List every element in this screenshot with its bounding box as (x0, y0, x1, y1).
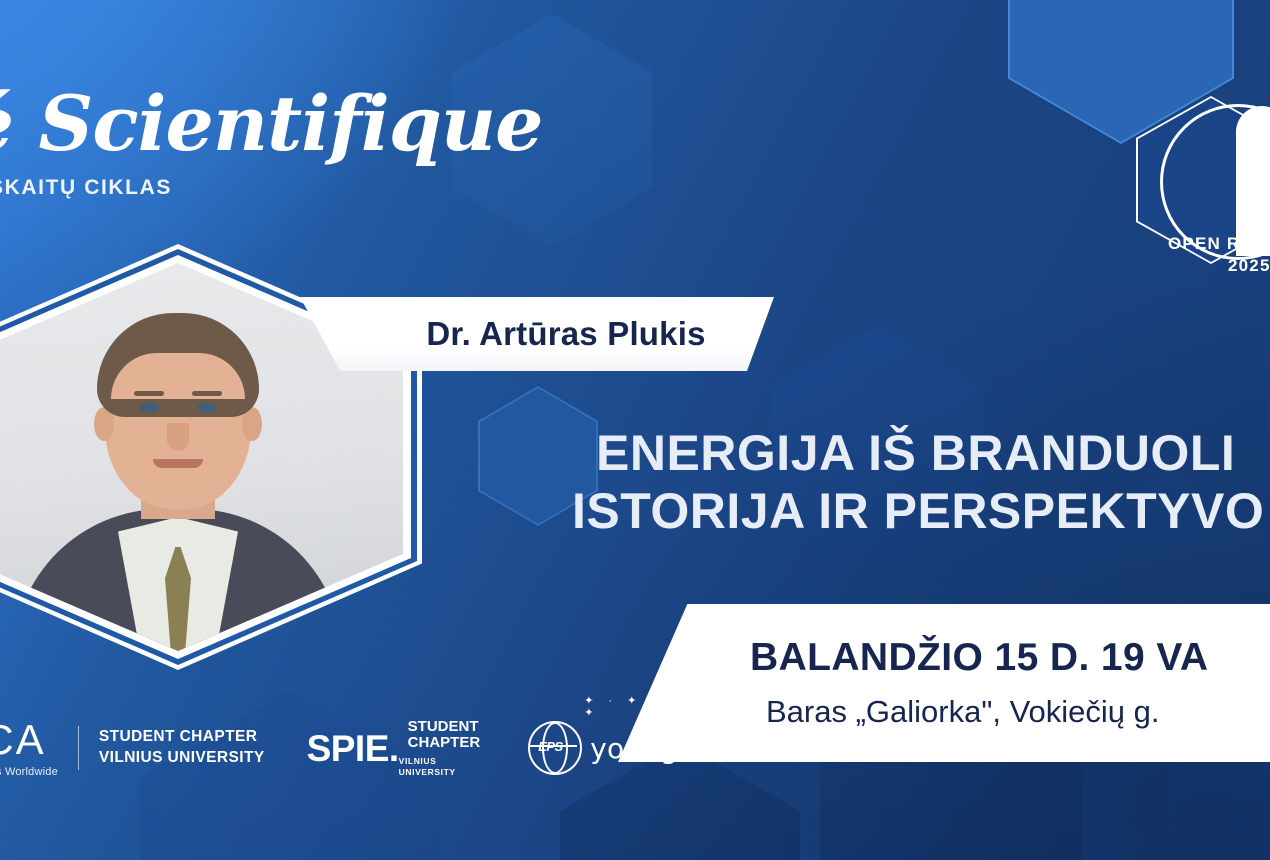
optica-chapter-line-1: STUDENT CHAPTER (99, 727, 265, 748)
spie-chapter: STUDENT CHAPTER (408, 719, 481, 752)
eps-abbreviation: EPS (538, 739, 563, 754)
spie-chapter-block: STUDENT CHAPTER VILNIUS UNIVERSITY (399, 719, 481, 777)
stars-decoration: ✦ · ✦ · ✧ · ✦ (584, 695, 724, 729)
spie-university: VILNIUS UNIVERSITY (399, 756, 481, 777)
portrait-eye-right (197, 403, 216, 412)
portrait-hair (97, 313, 259, 417)
portrait-mouth (153, 459, 203, 468)
optica-chapter-line-2: VILNIUS UNIVERSITY (99, 748, 265, 769)
portrait-eye-left (140, 403, 159, 412)
eps-young-minds-name: young Minds (590, 732, 770, 765)
lecture-title-line-1: ENERGIJA IŠ BRANDUOLI (596, 424, 1270, 482)
optica-tagline: d Photonics Worldwide (0, 766, 58, 778)
event-date: BALANDŽIO 15 D. 19 VA (750, 636, 1208, 680)
portrait-nose (167, 423, 189, 451)
globe-icon: EPS (528, 721, 582, 775)
optica-chapter: STUDENT CHAPTER VILNIUS UNIVERSITY (99, 727, 265, 769)
sponsor-logo-strip: TICA d Photonics Worldwide STUDENT CHAPT… (0, 712, 770, 784)
optica-name: TICA (0, 719, 58, 761)
spie-university-line-1: VILNIUS (399, 756, 481, 767)
brand-script-text: fé Scientifique (0, 86, 404, 162)
lecture-title: ENERGIJA IŠ BRANDUOLI ISTORIJA IR PERSPE… (596, 424, 1270, 540)
eps-young-minds-logo: ✦ · ✦ · ✧ · ✦ EPS young Minds (528, 721, 770, 775)
vertical-divider (78, 726, 79, 770)
spie-chapter-line-2: CHAPTER (408, 735, 481, 752)
event-venue: Baras „Galiorka", Vokiečių g. (766, 694, 1160, 730)
spie-university-line-2: UNIVERSITY (399, 767, 481, 778)
brand-subtitle: Ų PASKAITŲ CIKLAS (0, 176, 404, 200)
optica-logo: TICA d Photonics Worldwide STUDENT CHAPT… (0, 719, 265, 778)
event-poster: fé Scientifique Ų PASKAITŲ CIKLAS OPEN R… (0, 0, 1270, 860)
optica-wordmark: TICA d Photonics Worldwide (0, 719, 58, 778)
lecture-title-line-2: ISTORIJA IR PERSPEKTYVO (572, 482, 1270, 540)
portrait-eyebrow-right (192, 391, 222, 396)
speaker-name: Dr. Artūras Plukis (368, 315, 705, 353)
open-readiness-logo: OPEN REA 2025 (1132, 88, 1270, 278)
spie-name: SPIE. (307, 730, 399, 767)
spie-logo: SPIE. STUDENT CHAPTER VILNIUS UNIVERSITY (307, 719, 481, 777)
speaker-name-banner: Dr. Artūras Plukis (300, 297, 774, 371)
open-readiness-title: OPEN REA (1168, 234, 1266, 254)
brand-logo: fé Scientifique Ų PASKAITŲ CIKLAS (0, 86, 404, 200)
open-readiness-year: 2025 (1228, 256, 1270, 276)
spie-chapter-line-1: STUDENT (408, 719, 481, 736)
portrait-eyebrow-left (134, 391, 164, 396)
